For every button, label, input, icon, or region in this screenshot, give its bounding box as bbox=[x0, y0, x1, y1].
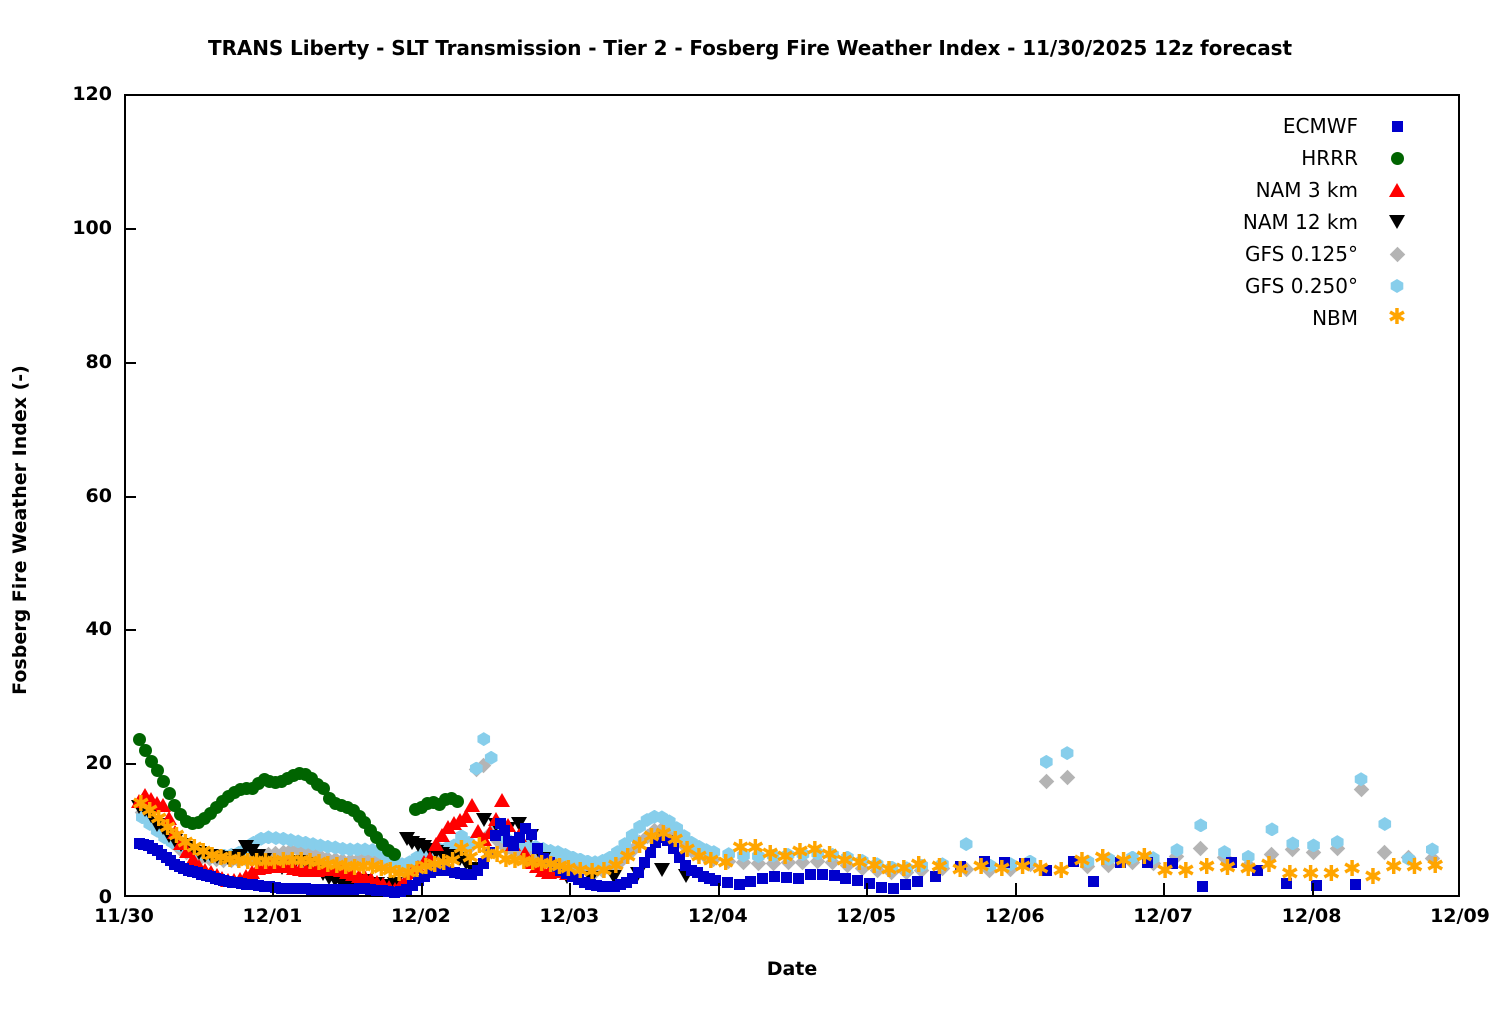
data-point: ✱ bbox=[184, 839, 204, 859]
data-point: ✱ bbox=[532, 855, 552, 875]
legend-label: HRRR bbox=[1301, 146, 1384, 170]
legend-item-gfs-0-250[interactable]: GFS 0.250° bbox=[1150, 270, 1410, 302]
data-point: ✱ bbox=[273, 852, 293, 872]
data-point: ✱ bbox=[653, 825, 673, 845]
legend-marker-icon bbox=[1384, 241, 1410, 267]
data-point: ✱ bbox=[478, 846, 498, 866]
data-point: ✱ bbox=[1404, 858, 1424, 878]
x-tick-mark bbox=[1312, 883, 1314, 895]
data-point: ✱ bbox=[630, 837, 650, 857]
data-point: ✱ bbox=[1384, 858, 1404, 878]
data-point: ✱ bbox=[1013, 858, 1033, 878]
data-point: ✱ bbox=[496, 851, 516, 871]
x-axis-label: Date bbox=[124, 958, 1460, 980]
data-point: ✱ bbox=[1030, 860, 1050, 880]
data-point: ✱ bbox=[541, 856, 561, 876]
data-point: ✱ bbox=[1301, 865, 1321, 885]
data-point: ✱ bbox=[618, 848, 638, 868]
legend-item-hrrr[interactable]: HRRR bbox=[1150, 142, 1410, 174]
x-tick-label: 12/06 bbox=[935, 905, 1095, 927]
data-point: ✱ bbox=[336, 858, 356, 878]
data-point: ✱ bbox=[665, 831, 685, 851]
x-tick-mark bbox=[569, 883, 571, 895]
data-point: ✱ bbox=[805, 841, 825, 861]
data-point: ✱ bbox=[1217, 859, 1237, 879]
data-point: ✱ bbox=[256, 853, 276, 873]
data-point: ✱ bbox=[790, 843, 810, 863]
data-point: ✱ bbox=[1114, 852, 1134, 872]
legend-marker-icon bbox=[1384, 177, 1410, 203]
data-point: ✱ bbox=[425, 856, 445, 876]
data-point: ✱ bbox=[202, 847, 222, 867]
data-point: ✱ bbox=[971, 858, 991, 878]
data-point: ✱ bbox=[434, 854, 454, 874]
data-point: ✱ bbox=[327, 857, 347, 877]
data-point: ✱ bbox=[487, 846, 507, 866]
data-point: ✱ bbox=[354, 858, 374, 878]
data-point: ✱ bbox=[407, 861, 427, 881]
legend-marker-icon bbox=[1384, 209, 1410, 235]
y-tick-mark bbox=[124, 629, 136, 631]
chart-title: TRANS Liberty - SLT Transmission - Tier … bbox=[0, 36, 1500, 60]
data-point: ✱ bbox=[300, 853, 320, 873]
y-tick-label: 100 bbox=[0, 217, 112, 239]
data-point: ✱ bbox=[929, 858, 949, 878]
data-point: ✱ bbox=[950, 861, 970, 881]
data-point: ✱ bbox=[416, 858, 436, 878]
data-point: ✱ bbox=[582, 863, 602, 883]
x-tick-label: 12/09 bbox=[1380, 905, 1500, 927]
y-tick-label: 80 bbox=[0, 351, 112, 373]
data-point: ✱ bbox=[716, 854, 736, 874]
x-tick-label: 12/02 bbox=[341, 905, 501, 927]
data-point: ✱ bbox=[469, 837, 489, 857]
y-tick-label: 60 bbox=[0, 485, 112, 507]
y-tick-mark bbox=[124, 362, 136, 364]
data-point: ✱ bbox=[193, 843, 213, 863]
x-tick-label: 12/04 bbox=[638, 905, 798, 927]
data-point: ✱ bbox=[1238, 860, 1258, 880]
data-point: ✱ bbox=[992, 860, 1012, 880]
data-point: ✱ bbox=[1155, 862, 1175, 882]
legend-marker-icon bbox=[1384, 273, 1410, 299]
legend-marker-icon bbox=[1384, 113, 1410, 139]
data-point: ✱ bbox=[894, 860, 914, 880]
data-point: ✱ bbox=[641, 828, 661, 848]
y-tick-label: 40 bbox=[0, 618, 112, 640]
data-point: ✱ bbox=[701, 852, 721, 872]
data-point: ✱ bbox=[443, 852, 463, 872]
data-point: ✱ bbox=[909, 856, 929, 876]
data-point: ✱ bbox=[1321, 865, 1341, 885]
data-point: ✱ bbox=[760, 845, 780, 865]
y-tick-mark bbox=[124, 228, 136, 230]
data-point: ✱ bbox=[879, 861, 899, 881]
legend-label: NAM 3 km bbox=[1256, 178, 1384, 202]
data-point: ✱ bbox=[229, 852, 249, 872]
data-point: ✱ bbox=[505, 852, 525, 872]
data-point: ✱ bbox=[570, 862, 590, 882]
legend-marker-icon: ✱ bbox=[1384, 305, 1410, 331]
data-point: ✱ bbox=[523, 854, 543, 874]
legend-item-gfs-0-125[interactable]: GFS 0.125° bbox=[1150, 238, 1410, 270]
data-point: ✱ bbox=[371, 860, 391, 880]
legend-marker-icon bbox=[1384, 145, 1410, 171]
data-point: ✱ bbox=[238, 853, 258, 873]
fosberg-fire-weather-index-chart: TRANS Liberty - SLT Transmission - Tier … bbox=[0, 0, 1500, 1000]
x-tick-mark bbox=[866, 883, 868, 895]
x-tick-mark bbox=[1015, 883, 1017, 895]
chart-legend: ECMWFHRRRNAM 3 kmNAM 12 kmGFS 0.125°GFS … bbox=[1150, 110, 1410, 334]
x-tick-mark bbox=[421, 883, 423, 895]
data-point: ✱ bbox=[149, 810, 169, 830]
data-point: ✱ bbox=[1072, 852, 1092, 872]
data-point: ✱ bbox=[1363, 868, 1383, 888]
data-point: ✱ bbox=[309, 854, 329, 874]
data-point: ✱ bbox=[514, 853, 534, 873]
data-point: ✱ bbox=[606, 857, 626, 877]
data-point: ✱ bbox=[1051, 862, 1071, 882]
x-tick-label: 12/03 bbox=[489, 905, 649, 927]
legend-label: NBM bbox=[1312, 306, 1384, 330]
y-tick-mark bbox=[124, 763, 136, 765]
data-point: ✱ bbox=[1259, 856, 1279, 876]
data-point: ✱ bbox=[864, 857, 884, 877]
data-point: ✱ bbox=[264, 853, 284, 873]
data-point: ✱ bbox=[345, 859, 365, 879]
data-point: ✱ bbox=[689, 848, 709, 868]
data-point: ✱ bbox=[820, 846, 840, 866]
data-point: ✱ bbox=[247, 853, 267, 873]
x-tick-label: 11/30 bbox=[44, 905, 204, 927]
data-point: ✱ bbox=[594, 862, 614, 882]
data-point: ✱ bbox=[175, 834, 195, 854]
legend-item-nbm[interactable]: NBM✱ bbox=[1150, 302, 1410, 334]
data-point: ✱ bbox=[389, 865, 409, 885]
data-point: ✱ bbox=[211, 849, 231, 869]
data-point: ✱ bbox=[380, 862, 400, 882]
legend-label: ECMWF bbox=[1283, 114, 1384, 138]
data-point: ✱ bbox=[291, 852, 311, 872]
x-tick-mark bbox=[1163, 883, 1165, 895]
data-point: ✱ bbox=[220, 851, 240, 871]
data-point: ✱ bbox=[1425, 857, 1445, 877]
y-axis-label: Fosberg Fire Weather Index (-) bbox=[0, 30, 40, 1030]
data-point: ✱ bbox=[775, 848, 795, 868]
data-point: ✱ bbox=[745, 839, 765, 859]
data-point: ✱ bbox=[558, 860, 578, 880]
legend-item-nam-12-km[interactable]: NAM 12 km bbox=[1150, 206, 1410, 238]
x-tick-label: 12/01 bbox=[192, 905, 352, 927]
data-point: ✱ bbox=[677, 841, 697, 861]
data-point: ✱ bbox=[1197, 858, 1217, 878]
data-point: ✱ bbox=[549, 858, 569, 878]
x-tick-mark bbox=[272, 883, 274, 895]
data-point: ✱ bbox=[362, 858, 382, 878]
data-point: ✱ bbox=[166, 827, 186, 847]
data-point: ✱ bbox=[318, 856, 338, 876]
data-point: ✱ bbox=[131, 795, 151, 815]
x-tick-label: 12/07 bbox=[1083, 905, 1243, 927]
legend-item-ecmwf[interactable]: ECMWF bbox=[1150, 110, 1410, 142]
legend-label: GFS 0.250° bbox=[1245, 274, 1384, 298]
legend-label: GFS 0.125° bbox=[1245, 242, 1384, 266]
legend-label: NAM 12 km bbox=[1243, 210, 1384, 234]
data-point: ✱ bbox=[158, 819, 178, 839]
data-point: ✱ bbox=[834, 852, 854, 872]
data-point: ✱ bbox=[451, 840, 471, 860]
y-tick-label: 120 bbox=[0, 83, 112, 105]
data-point: ✱ bbox=[849, 854, 869, 874]
data-point: ✱ bbox=[398, 864, 418, 884]
data-point: ✱ bbox=[1176, 862, 1196, 882]
x-tick-label: 12/05 bbox=[786, 905, 946, 927]
data-point: ✱ bbox=[1280, 865, 1300, 885]
data-point: ✱ bbox=[1134, 848, 1154, 868]
data-point: ✱ bbox=[140, 802, 160, 822]
data-point: ✱ bbox=[460, 849, 480, 869]
data-point: ✱ bbox=[731, 839, 751, 859]
x-tick-mark bbox=[718, 883, 720, 895]
data-point: ✱ bbox=[1093, 849, 1113, 869]
x-tick-label: 12/08 bbox=[1232, 905, 1392, 927]
data-point: ✱ bbox=[1342, 860, 1362, 880]
legend-item-nam-3-km[interactable]: NAM 3 km bbox=[1150, 174, 1410, 206]
y-tick-mark bbox=[124, 496, 136, 498]
data-point: ✱ bbox=[282, 852, 302, 872]
y-tick-label: 20 bbox=[0, 752, 112, 774]
